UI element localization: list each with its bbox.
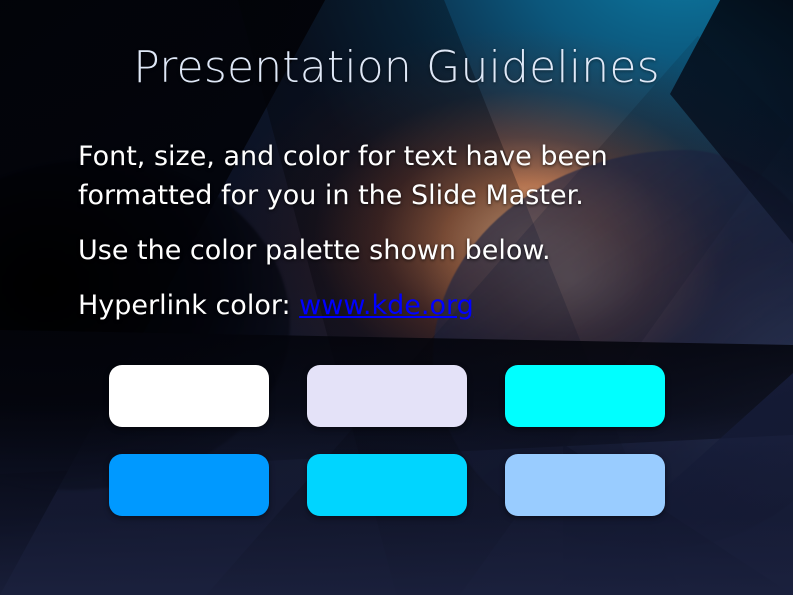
body-paragraph-1: Font, size, and color for text have been… [78, 138, 718, 216]
palette-swatch-azure-blue[interactable] [109, 454, 269, 516]
hyperlink-label: Hyperlink color: [78, 290, 299, 321]
kde-hyperlink[interactable]: www.kde.org [299, 290, 474, 321]
page-title: Presentation Guidelines [0, 42, 793, 93]
color-palette [109, 365, 667, 516]
slide-content: Presentation Guidelines Font, size, and … [0, 0, 793, 595]
palette-swatch-cyan[interactable] [505, 365, 665, 427]
body-paragraph-3: Hyperlink color: www.kde.org [78, 287, 738, 326]
palette-swatch-light-sky-blue[interactable] [505, 454, 665, 516]
slide-body: Font, size, and color for text have been… [78, 138, 738, 326]
palette-swatch-deep-cyan[interactable] [307, 454, 467, 516]
palette-swatch-pale-lavender[interactable] [307, 365, 467, 427]
body-paragraph-2: Use the color palette shown below. [78, 232, 738, 271]
palette-swatch-white[interactable] [109, 365, 269, 427]
presentation-slide: Presentation Guidelines Font, size, and … [0, 0, 793, 595]
